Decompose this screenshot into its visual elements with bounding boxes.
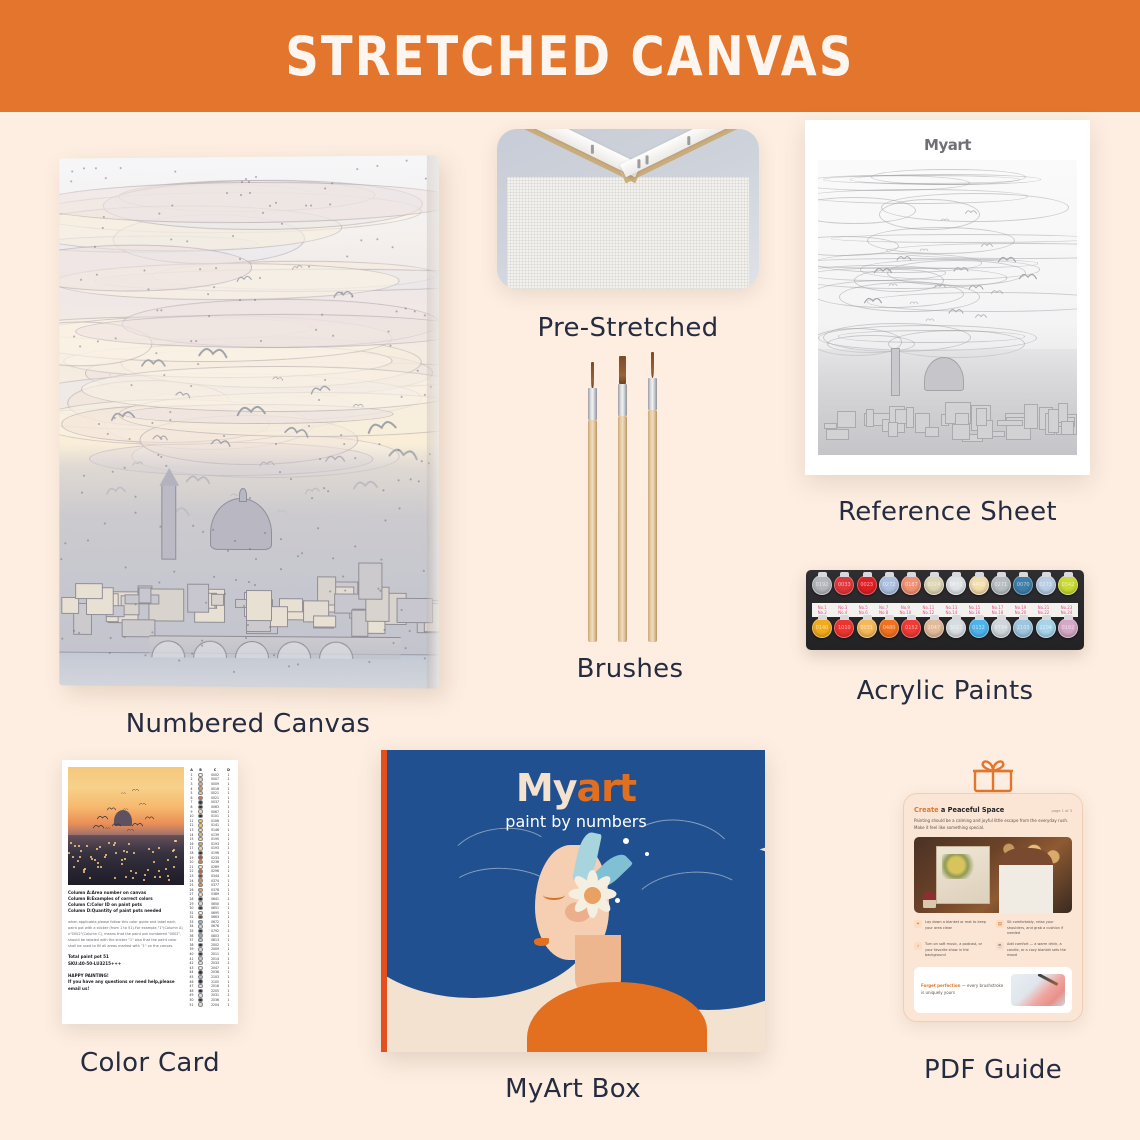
color-card-row: 700371: [188, 800, 232, 805]
window-light-dot: [133, 852, 135, 854]
paint-number-dot: [159, 526, 161, 528]
myart-box-subtitle: paint by numbers: [387, 812, 765, 831]
paint-pot[interactable]: 2047: [924, 618, 944, 638]
cell-area-number: 3: [188, 782, 195, 786]
color-card-happy: HAPPY PAINTING!: [68, 973, 184, 980]
color-card-row: 200071: [188, 777, 232, 782]
paint-pot[interactable]: 0631: [946, 575, 966, 595]
bird-icon: [198, 345, 229, 359]
cell-color-id: 0676: [206, 924, 224, 928]
reference-building-shape: [976, 408, 988, 426]
pdf-guide-item: Create a Peaceful Space page 1 of 3 Pain…: [903, 760, 1083, 1022]
window-light-dot: [123, 850, 125, 852]
paint-number-dot: [377, 588, 379, 590]
myart-box-image: Myart paint by numbers: [381, 750, 765, 1052]
color-card-row: 4920311: [188, 993, 232, 998]
window-light-dot: [89, 877, 91, 879]
color-card-row: 900671: [188, 809, 232, 814]
cell-quantity: 1: [225, 879, 232, 883]
paint-label-pair: No.7No.8: [879, 605, 888, 615]
cell-area-number: 5: [188, 791, 195, 795]
cell-area-number: 38: [188, 943, 195, 947]
paint-pot[interactable]: 1010: [834, 618, 854, 638]
paint-number-dot: [79, 345, 81, 347]
cell-area-number: 20: [188, 860, 195, 864]
paint-pot-id: 0631: [947, 576, 965, 594]
paint-label-pair: No.15No.16: [969, 605, 981, 615]
color-card-row: 3708131: [188, 938, 232, 943]
paint-pot-id: 2047: [925, 619, 943, 637]
cell-color-id: 2014: [206, 957, 224, 961]
cell-area-number: 19: [188, 856, 195, 860]
paint-pot[interactable]: 2204: [1036, 618, 1056, 638]
cell-area-number: 22: [188, 869, 195, 873]
canvas-bell-tower: [161, 484, 176, 560]
color-card-total: Total paint pot 51: [68, 954, 184, 961]
reference-sheet-item: Myart Reference Sheet: [805, 120, 1090, 475]
pdf-guide-title: Create a Peaceful Space: [914, 806, 1004, 814]
paint-pot-id: 0140: [813, 619, 831, 637]
color-card-bird-icon: [92, 814, 103, 820]
paint-pot[interactable]: 0031: [857, 618, 877, 638]
numbered-canvas-item: Numbered Canvas: [58, 157, 438, 687]
paint-number-dot: [380, 590, 382, 592]
cell-color-id: 0067: [206, 810, 224, 814]
reference-bird-icon: [934, 279, 946, 284]
building-shape: [358, 563, 382, 600]
paint-pot[interactable]: 0070: [1013, 575, 1033, 595]
numbered-canvas-image: [59, 155, 439, 688]
cell-quantity: 1: [225, 842, 232, 846]
paint-number-dot: [214, 606, 216, 608]
paint-number-dot: [171, 204, 173, 206]
reference-duomo-dome: [924, 357, 964, 391]
cell-color-id: 0016: [206, 787, 224, 791]
reference-bird-icon: [896, 249, 911, 256]
paint-pot-id: 0031: [858, 619, 876, 637]
cell-color-id: 2036: [206, 970, 224, 974]
paint-number-dot: [319, 458, 321, 460]
cell-color-id: 2011: [206, 952, 224, 956]
brush-medium: [648, 352, 657, 642]
paint-pot[interactable]: 0182: [1058, 618, 1078, 638]
color-card-row: 4420361: [188, 970, 232, 975]
pdf-guide-photo: [914, 837, 1072, 913]
window-light-dot: [153, 861, 155, 863]
cell-area-number: 2: [188, 777, 195, 781]
paint-pot[interactable]: 4400: [969, 575, 989, 595]
canvas-side-edge: [427, 155, 439, 688]
window-light-dot: [167, 859, 169, 861]
paint-number-dot: [144, 654, 146, 656]
paint-pot[interactable]: 0480: [879, 618, 899, 638]
paint-pot-id: 0271: [992, 576, 1010, 594]
pdf-guide-header: Create a Peaceful Space page 1 of 3: [914, 806, 1072, 814]
color-card-row: 2603781: [188, 887, 232, 892]
cell-color-id: 0146: [206, 828, 224, 832]
cell-area-number: 49: [188, 993, 195, 997]
reference-building-shape: [826, 429, 849, 440]
window-light-dot: [86, 845, 88, 847]
color-card-row: 1801961: [188, 851, 232, 856]
paint-number-dot: [232, 235, 234, 237]
paint-pot[interactable]: 0023: [857, 575, 877, 595]
color-card-row: 1001011: [188, 814, 232, 819]
window-light-dot: [84, 868, 86, 870]
color-card-row: 1101061: [188, 819, 232, 824]
cell-quantity: 1: [225, 819, 232, 823]
cell-color-id: 0141: [206, 823, 224, 827]
color-card-row: 500211: [188, 791, 232, 796]
color-card-note: when applicable,please follow this color…: [68, 919, 184, 950]
cell-color-id: 0193: [206, 842, 224, 846]
window-light-dot: [97, 862, 99, 864]
cell-color-id: 0289: [206, 865, 224, 869]
color-card-left-column: Column A:Area number on canvas Column B:…: [68, 767, 184, 1017]
pdf-guide-page: Create a Peaceful Space page 1 of 3 Pain…: [903, 793, 1083, 1022]
cell-quantity: 1: [225, 791, 232, 795]
cell-area-number: 10: [188, 814, 195, 818]
paint-number-dot: [64, 542, 66, 544]
paint-number-dot: [104, 522, 106, 524]
cell-color-id: 0233: [206, 856, 224, 860]
reference-bird-icon: [965, 205, 977, 210]
color-card-bird-icon: [123, 803, 128, 806]
paint-number-dot: [147, 288, 149, 290]
cell-color-id: 0377: [206, 883, 224, 887]
paint-pot[interactable]: 2103: [1013, 618, 1033, 638]
cell-area-number: 41: [188, 957, 195, 961]
paint-number-dot: [215, 267, 217, 269]
cell-area-number: 48: [188, 989, 195, 993]
paint-number-dot: [354, 457, 356, 459]
cell-color-id: 2016: [206, 984, 224, 988]
paint-number-dot: [158, 581, 160, 583]
paint-pot[interactable]: 0140: [812, 618, 832, 638]
pdf-tip-text: Sit comfortably, relax your shoulders, a…: [1007, 920, 1072, 937]
paint-number-dot: [315, 329, 317, 331]
color-card-row: 4822051: [188, 989, 232, 994]
color-card-bird-icon: [144, 807, 153, 812]
cell-color-id: 2009: [206, 947, 224, 951]
color-card-row: 2102891: [188, 864, 232, 869]
paint-number-dot: [109, 637, 111, 639]
reference-bird-icon: [975, 308, 987, 313]
paint-number-dot: [318, 399, 320, 401]
cell-color-id: 0344: [206, 874, 224, 878]
paint-number-dot: [275, 443, 277, 445]
cell-quantity: 1: [225, 814, 232, 818]
paint-number-dot: [97, 340, 99, 342]
cell-area-number: 7: [188, 800, 195, 804]
cell-quantity: 1: [225, 920, 232, 924]
color-card-row: 4320471: [188, 966, 232, 971]
cell-quantity: 1: [225, 846, 232, 850]
cell-quantity: 1: [225, 993, 232, 997]
paint-number-dot: [120, 167, 122, 169]
col-header-d: D: [225, 768, 232, 772]
paint-number-dot: [129, 437, 131, 439]
cell-area-number: 21: [188, 865, 195, 869]
pdf-tip: ✦Lay down a blanket or mat to keep your …: [914, 920, 990, 937]
paint-number-dot: [96, 273, 98, 275]
color-card-row: 4521031: [188, 975, 232, 980]
cell-color-id: 2031: [206, 993, 224, 997]
brush-flat: [618, 356, 627, 642]
paint-number-dot: [255, 558, 257, 560]
paint-number-dot: [224, 592, 226, 594]
paint-pot-id: 0794: [992, 619, 1010, 637]
paint-pot-id: 0182: [1059, 619, 1077, 637]
cell-quantity: 1: [225, 915, 232, 919]
color-card-row: 2303441: [188, 874, 232, 879]
numbered-canvas-label: Numbered Canvas: [58, 709, 438, 739]
cell-color-id: 0196: [206, 851, 224, 855]
bird-icon: [236, 403, 267, 418]
paint-pot[interactable]: 0024: [924, 575, 944, 595]
paint-number-dot: [233, 671, 235, 673]
color-card-row: 4020111: [188, 952, 232, 957]
paint-number-dot: [248, 181, 250, 183]
photo-wine-glass: [923, 891, 936, 908]
cell-quantity: 1: [225, 911, 232, 915]
cell-area-number: 47: [188, 984, 195, 988]
cell-color-id: 2105: [206, 980, 224, 984]
cell-color-id: 0037: [206, 800, 224, 804]
reference-sheet-logo: Myart: [924, 136, 971, 154]
window-light-dot: [147, 869, 149, 871]
paint-pot[interactable]: 0187: [901, 575, 921, 595]
paint-pot-id: 0033: [835, 576, 853, 594]
callout-brush-icon: [1038, 974, 1059, 986]
color-card-bird-icon: [131, 782, 138, 786]
acrylic-paints-label: Acrylic Paints: [806, 676, 1084, 706]
window-light-dot: [167, 875, 169, 877]
reference-building-shape: [824, 423, 837, 429]
cell-color-id: 0672: [206, 920, 224, 924]
window-light-dot: [152, 851, 154, 853]
cell-area-number: 18: [188, 851, 195, 855]
color-card-row: 600211: [188, 796, 232, 801]
reference-building-shape: [1048, 409, 1058, 433]
window-light-dot: [100, 866, 102, 868]
paint-number-dot: [376, 165, 378, 167]
pre-stretched-image: [497, 129, 759, 289]
reference-cityscape: [818, 349, 1077, 455]
cell-area-number: 51: [188, 1003, 195, 1007]
cell-area-number: 4: [188, 787, 195, 791]
reference-bird-icon: [991, 285, 1003, 290]
color-card-bird-icon: [112, 814, 121, 819]
paint-pot[interactable]: 0272: [879, 575, 899, 595]
window-light-dot: [99, 846, 101, 848]
reference-bird-icon: [910, 297, 919, 301]
color-card-row: 5122041: [188, 1002, 232, 1007]
cell-area-number: 31: [188, 911, 195, 915]
window-light-dot: [80, 850, 82, 852]
paint-number-dot: [273, 654, 275, 656]
cell-quantity: 1: [225, 970, 232, 974]
cell-quantity: 1: [225, 874, 232, 878]
pdf-guide-callout: Forget perfection — every brushstroke is…: [914, 967, 1072, 1013]
cell-area-number: 16: [188, 842, 195, 846]
candle-icon: ☕: [996, 942, 1004, 950]
paint-number-dot: [201, 639, 203, 641]
paint-pot-id: 0480: [880, 619, 898, 637]
cell-quantity: 1: [225, 805, 232, 809]
paint-pot[interactable]: 0132: [969, 618, 989, 638]
cell-color-id: 2103: [206, 975, 224, 979]
paint-number-dot: [421, 460, 423, 462]
color-card-row: 2703891: [188, 892, 232, 897]
cell-color-id: 0651: [206, 906, 224, 910]
cell-quantity: 1: [225, 989, 232, 993]
cell-area-number: 46: [188, 980, 195, 984]
color-card-row: 3820021: [188, 943, 232, 948]
window-light-dot: [77, 860, 79, 862]
paint-label-pair: No.5No.6: [859, 605, 868, 615]
cell-color-id: 0663: [206, 915, 224, 919]
paint-number-dot: [324, 378, 326, 380]
paint-label-pair: No.23No.24: [1061, 605, 1073, 615]
color-card-row: 3106951: [188, 910, 232, 915]
product-contents-grid: Numbered Canvas Pre-Stretched Myart: [0, 112, 1140, 1140]
cell-color-id: 2036: [206, 998, 224, 1002]
myart-box-label: MyArt Box: [381, 1074, 765, 1104]
callout-image: [1011, 974, 1065, 1006]
paint-number-dot: [212, 529, 214, 531]
cell-area-number: 40: [188, 952, 195, 956]
paint-label-pair: No.19No.20: [1015, 605, 1027, 615]
building-shape: [246, 590, 272, 621]
box-woman-lips: [534, 938, 549, 946]
pdf-tip-text: Add comfort — a warm drink, a candle, or…: [1007, 942, 1072, 959]
color-card-legend: Column A:Area number on canvas Column B:…: [68, 890, 184, 915]
color-card-row: 1701931: [188, 846, 232, 851]
window-light-dot: [94, 859, 96, 861]
paint-label-pair: No.21No.22: [1038, 605, 1050, 615]
paint-pot[interactable]: 0271: [991, 575, 1011, 595]
canvas-cityscape: [59, 443, 439, 689]
paint-pot-id: 0187: [902, 576, 920, 594]
paint-number-dot: [160, 309, 162, 311]
paint-pot[interactable]: 0152: [901, 618, 921, 638]
paint-label-pair: No.3No.4: [838, 605, 847, 615]
cell-area-number: 32: [188, 915, 195, 919]
cell-quantity: 1: [225, 984, 232, 988]
color-card-bird-icon: [127, 822, 134, 826]
paint-pot-row-bottom: 0140101000310480015220473021013207942103…: [812, 618, 1078, 646]
reference-building-shape: [1061, 421, 1074, 435]
cell-area-number: 28: [188, 897, 195, 901]
reference-building-shape: [906, 407, 914, 428]
cell-area-number: 29: [188, 902, 195, 906]
cell-color-id: 0695: [206, 911, 224, 915]
bird-icon: [332, 289, 353, 299]
pdf-tip: ♪Turn on soft music, a podcast, or your …: [914, 942, 990, 959]
brushes-label: Brushes: [530, 654, 730, 684]
cell-quantity: 1: [225, 823, 232, 827]
paint-pot-id: 0192: [813, 576, 831, 594]
cell-color-id: 0106: [206, 819, 224, 823]
reference-building-shape: [952, 424, 970, 440]
paint-pot-id: 0272: [880, 576, 898, 594]
cell-color-id: 0007: [206, 777, 224, 781]
paint-pot[interactable]: 0033: [834, 575, 854, 595]
brushes-item: Brushes: [560, 352, 700, 642]
paint-number-dot: [170, 238, 172, 240]
pdf-title-accent: Create: [914, 806, 939, 814]
window-light-dot: [159, 876, 161, 878]
paint-number-dot: [208, 315, 210, 317]
paint-number-dot: [202, 531, 204, 533]
color-card-row: 2403741: [188, 878, 232, 883]
color-card-row: 800631: [188, 805, 232, 810]
building-shape: [61, 597, 79, 614]
paint-number-dot: [255, 175, 257, 177]
cell-area-number: 37: [188, 938, 195, 942]
bird-icon: [140, 358, 165, 368]
cell-color-id: 0101: [206, 814, 224, 818]
building-shape: [188, 584, 210, 613]
color-card-row: 4720161: [188, 984, 232, 989]
reference-bird-icon: [941, 215, 950, 219]
cell-color-id: 0803: [206, 934, 224, 938]
color-card-preview-artwork: [68, 767, 184, 885]
paint-label-pair: No.1No.2: [818, 605, 827, 615]
cell-color-id: 0190: [206, 837, 224, 841]
paint-pot[interactable]: 0342: [1058, 575, 1078, 595]
color-card-contact: If you have any questions or need help,p…: [68, 979, 184, 993]
paint-pot-id: 0070: [1014, 576, 1032, 594]
col-header-a: A: [188, 768, 195, 772]
paint-number-dot: [389, 344, 391, 346]
cell-color-id: 0139: [206, 833, 224, 837]
pdf-page-number: page 1 of 3: [1052, 809, 1072, 813]
cell-quantity: 1: [225, 828, 232, 832]
paint-pot[interactable]: 3021: [946, 618, 966, 638]
color-card-table-rows: 1000212000713000914001615002116002117003…: [188, 773, 232, 1007]
cell-quantity: 1: [225, 966, 232, 970]
paint-number-dot: [297, 663, 299, 665]
paint-number-dot: [207, 293, 209, 295]
color-card-table-header: A B C D: [188, 768, 232, 773]
color-card-row: 1601931: [188, 842, 232, 847]
paint-number-dot: [81, 491, 83, 493]
paint-pot-id: 1010: [835, 619, 853, 637]
paint-pot[interactable]: 0192: [812, 575, 832, 595]
cell-area-number: 23: [188, 874, 195, 878]
building-shape: [313, 616, 335, 628]
cell-color-id: 0193: [206, 846, 224, 850]
color-card-row: 3306721: [188, 920, 232, 925]
color-card-row: 400161: [188, 786, 232, 791]
paint-pot[interactable]: 0273: [1036, 575, 1056, 595]
cell-quantity: 1: [225, 800, 232, 804]
paint-label-pair: No.11No.12: [923, 605, 935, 615]
color-card-row: 3608031: [188, 933, 232, 938]
window-light-dot: [148, 848, 150, 850]
paint-number-dot: [115, 337, 117, 339]
cell-color-id: 0374: [206, 879, 224, 883]
color-card-footer: Total paint pot 51 SKU:40-50-LU3215+++ H…: [68, 954, 184, 993]
paint-pot[interactable]: 0794: [991, 618, 1011, 638]
reference-building-shape: [866, 409, 874, 426]
cell-quantity: 1: [225, 906, 232, 910]
pdf-guide-tips: ✦Lay down a blanket or mat to keep your …: [914, 920, 1072, 959]
window-light-dot: [158, 870, 160, 872]
cell-color-id: 0378: [206, 888, 224, 892]
